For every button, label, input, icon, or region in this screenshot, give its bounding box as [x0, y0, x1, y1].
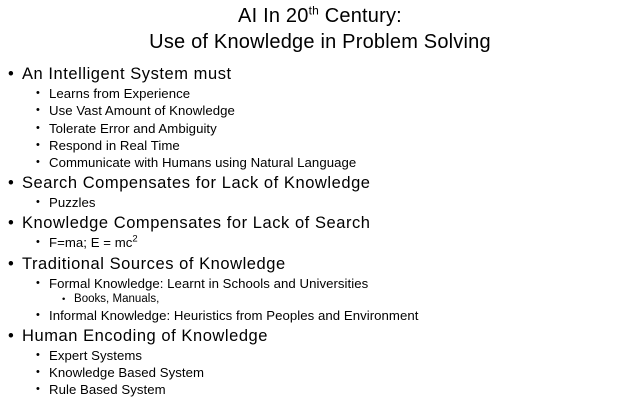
outline-item-label: Respond in Real Time — [49, 138, 180, 153]
title-superscript-th: th — [309, 3, 319, 17]
outline-item-label: F=ma; E = mc2 — [49, 235, 138, 250]
outline-item-level2: • Expert Systems — [6, 347, 640, 364]
outline-item-label: Knowledge Compensates for Lack of Search — [22, 214, 371, 232]
bullet-icon: • — [36, 364, 40, 381]
slide-body: • An Intelligent System must • Learns fr… — [0, 63, 640, 398]
outline-item-level2-formula: • F=ma; E = mc2 — [6, 234, 640, 251]
bullet-icon: • — [8, 325, 14, 347]
outline-item-label: Books, Manuals, — [74, 293, 159, 305]
bullet-icon: • — [8, 63, 14, 85]
outline-item-label: Formal Knowledge: Learnt in Schools and … — [49, 276, 368, 291]
outline-item-label: An Intelligent System must — [22, 65, 232, 83]
outline-item-level3: • Books, Manuals, — [6, 292, 640, 307]
bullet-icon: • — [36, 137, 40, 154]
outline-item-level1: • Knowledge Compensates for Lack of Sear… — [6, 212, 640, 234]
bullet-icon: • — [62, 292, 65, 307]
outline-sublist: • Formal Knowledge: Learnt in Schools an… — [6, 275, 640, 324]
outline-sublist: • Learns from Experience • Use Vast Amou… — [6, 85, 640, 171]
outline-list: • An Intelligent System must • Learns fr… — [6, 63, 640, 398]
title-line-1-pre: AI In 20 — [238, 5, 309, 27]
outline-item-label: Learns from Experience — [49, 86, 190, 101]
outline-item-level2: • Informal Knowledge: Heuristics from Pe… — [6, 307, 640, 324]
bullet-icon: • — [36, 307, 40, 324]
outline-item-label: Puzzles — [49, 195, 96, 210]
outline-item-label: Informal Knowledge: Heuristics from Peop… — [49, 308, 418, 323]
formula-base: F=ma; E = mc — [49, 235, 132, 250]
outline-item-level2: • Tolerate Error and Ambiguity — [6, 120, 640, 137]
bullet-icon: • — [8, 172, 14, 194]
outline-item-label: Knowledge Based System — [49, 365, 204, 380]
outline-item-label: Search Compensates for Lack of Knowledge — [22, 174, 371, 192]
slide-title: AI In 20th Century: Use of Knowledge in … — [0, 0, 640, 55]
bullet-icon: • — [36, 154, 40, 171]
title-line-1: AI In 20th Century: — [0, 4, 640, 30]
bullet-icon: • — [36, 194, 40, 211]
outline-item-label: Use Vast Amount of Knowledge — [49, 103, 235, 118]
outline-item-level2: • Learns from Experience — [6, 85, 640, 102]
outline-sublist: • Expert Systems • Knowledge Based Syste… — [6, 347, 640, 399]
outline-item-level1: • An Intelligent System must — [6, 63, 640, 85]
bullet-icon: • — [8, 212, 14, 234]
outline-item-level2: • Communicate with Humans using Natural … — [6, 154, 640, 171]
outline-item-label: Human Encoding of Knowledge — [22, 327, 268, 345]
outline-item-level2: • Rule Based System — [6, 381, 640, 398]
title-line-2: Use of Knowledge in Problem Solving — [0, 30, 640, 56]
outline-item-level2: • Puzzles — [6, 194, 640, 211]
outline-item-level2: • Knowledge Based System — [6, 364, 640, 381]
outline-item-label: Tolerate Error and Ambiguity — [49, 121, 217, 136]
bullet-icon: • — [36, 120, 40, 137]
bullet-icon: • — [36, 275, 40, 292]
bullet-icon: • — [36, 234, 40, 251]
formula-exponent: 2 — [132, 234, 137, 245]
bullet-icon: • — [8, 253, 14, 275]
outline-sublist: • F=ma; E = mc2 — [6, 234, 640, 251]
outline-item-level2: • Respond in Real Time — [6, 137, 640, 154]
bullet-icon: • — [36, 102, 40, 119]
outline-item-label: Traditional Sources of Knowledge — [22, 255, 286, 273]
bullet-icon: • — [36, 85, 40, 102]
bullet-icon: • — [36, 381, 40, 398]
outline-item-label: Communicate with Humans using Natural La… — [49, 155, 356, 170]
outline-sublist: • Puzzles — [6, 194, 640, 211]
outline-item-level1: • Traditional Sources of Knowledge — [6, 253, 640, 275]
outline-subsublist: • Books, Manuals, — [6, 292, 640, 307]
slide-canvas: AI In 20th Century: Use of Knowledge in … — [0, 0, 640, 410]
outline-item-level2: • Formal Knowledge: Learnt in Schools an… — [6, 275, 640, 292]
outline-item-label: Rule Based System — [49, 382, 166, 397]
outline-item-label: Expert Systems — [49, 348, 142, 363]
outline-item-level2: • Use Vast Amount of Knowledge — [6, 102, 640, 119]
outline-item-level1: • Search Compensates for Lack of Knowled… — [6, 172, 640, 194]
outline-item-level1: • Human Encoding of Knowledge — [6, 325, 640, 347]
title-line-1-post: Century: — [319, 5, 402, 27]
bullet-icon: • — [36, 347, 40, 364]
